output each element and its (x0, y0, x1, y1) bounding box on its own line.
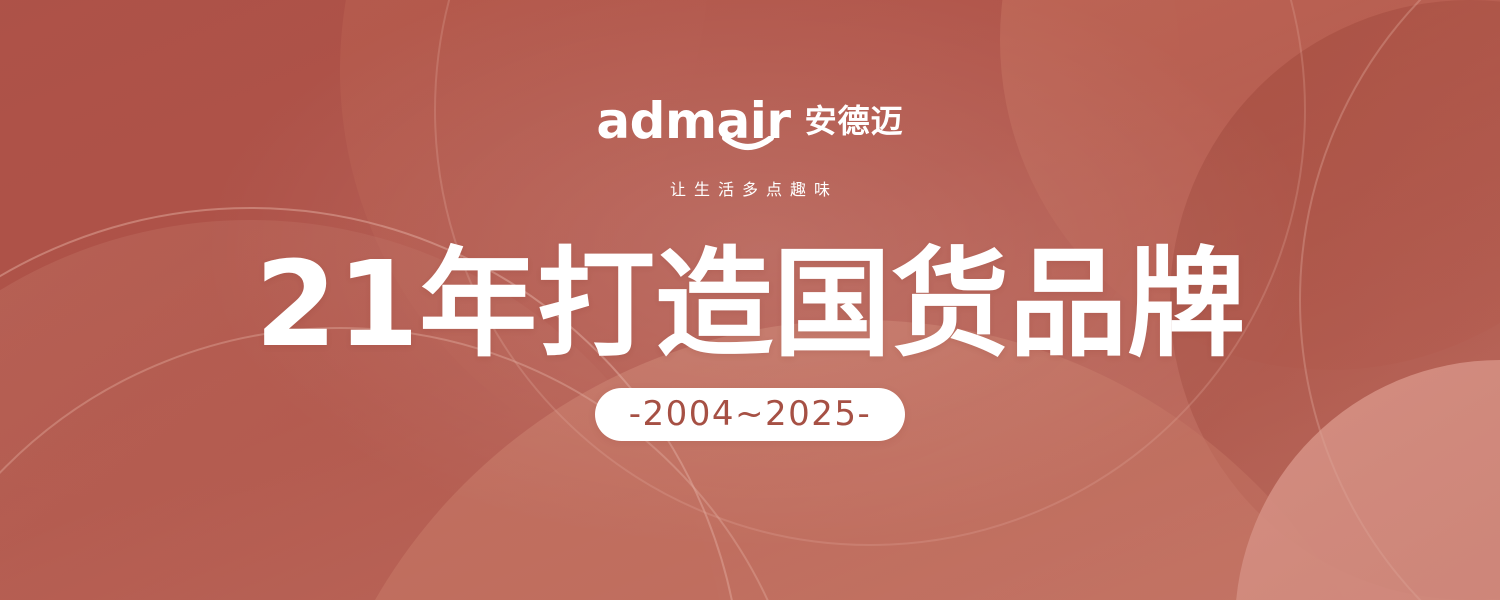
brand-tagline: 让生活多点趣味 (662, 176, 838, 200)
smile-arc-icon (722, 136, 774, 154)
logo-chinese-name: 安德迈 (805, 96, 904, 146)
promo-banner: admair 安德迈 让生活多点趣味 21年打造国货品牌 -2004~2025- (0, 0, 1500, 600)
logo-row: admair 安德迈 (596, 96, 903, 146)
date-range-pill: -2004~2025- (595, 388, 906, 441)
headline-title: 21年打造国货品牌 (255, 244, 1245, 364)
banner-content: admair 安德迈 让生活多点趣味 21年打造国货品牌 -2004~2025- (0, 0, 1500, 600)
brand-logo: admair 安德迈 让生活多点趣味 (596, 96, 903, 200)
logo-wordmark: admair (596, 96, 790, 146)
